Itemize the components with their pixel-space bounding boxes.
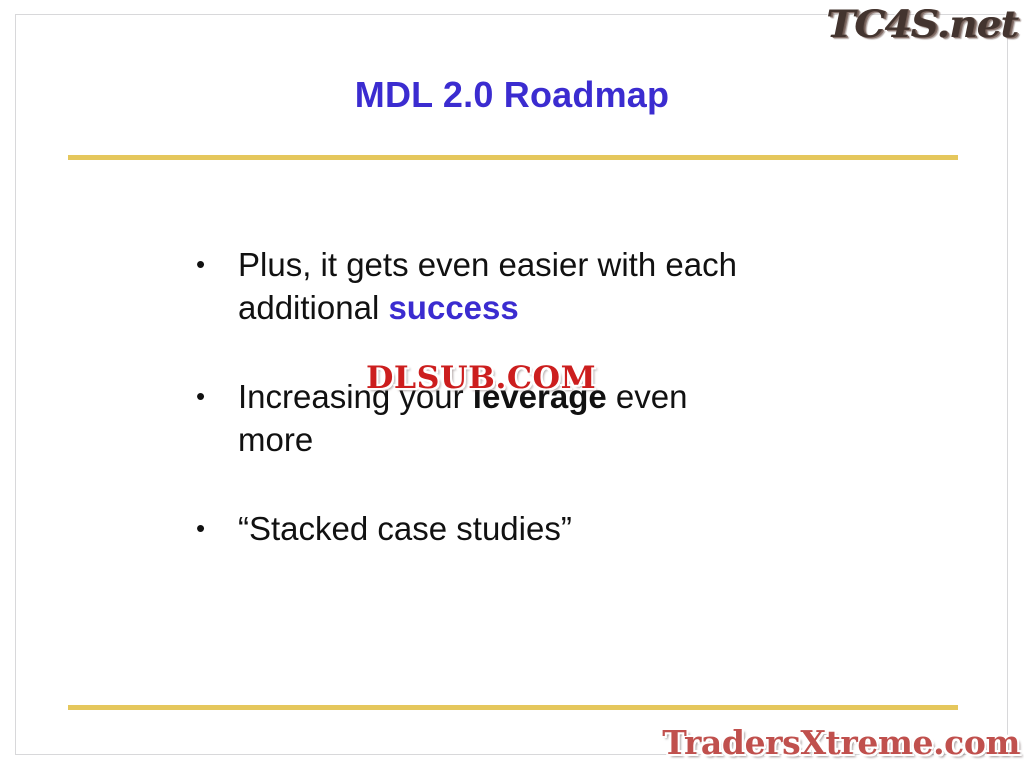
- bullet-marker-icon: •: [196, 244, 238, 284]
- bullet-2-line-1-pre: Increasing your: [238, 378, 473, 415]
- list-item-text: Increasing your leverage even more: [238, 376, 916, 462]
- divider-top: [68, 155, 958, 160]
- slide-body: • Plus, it gets even easier with each ad…: [196, 244, 916, 550]
- bullet-marker-icon: •: [196, 508, 238, 548]
- bullet-1-line-2-plain: additional: [238, 289, 388, 326]
- spacer-after-bullet-1: [196, 330, 916, 376]
- list-item: • Increasing your leverage even more: [196, 376, 916, 462]
- bullet-2-line-1-post: even: [607, 378, 688, 415]
- list-item-text: “Stacked case studies”: [238, 508, 916, 551]
- bullet-2-line-2: more: [238, 421, 313, 458]
- bullet-1-emphasis-success: success: [388, 289, 518, 326]
- bullet-marker-icon: •: [196, 376, 238, 416]
- slide-root: MDL 2.0 Roadmap • Plus, it gets even eas…: [0, 0, 1024, 768]
- bullet-3-line-1: “Stacked case studies”: [238, 510, 572, 547]
- page-title: MDL 2.0 Roadmap: [0, 74, 1024, 116]
- bullet-1-line-1: Plus, it gets even easier with each: [238, 246, 737, 283]
- divider-bottom: [68, 705, 958, 710]
- list-item-text: Plus, it gets even easier with each addi…: [238, 244, 916, 330]
- bullet-2-emphasis-leverage: leverage: [473, 378, 607, 415]
- spacer-after-bullet-2: [196, 462, 916, 508]
- list-item: • Plus, it gets even easier with each ad…: [196, 244, 916, 330]
- list-item: • “Stacked case studies”: [196, 508, 916, 551]
